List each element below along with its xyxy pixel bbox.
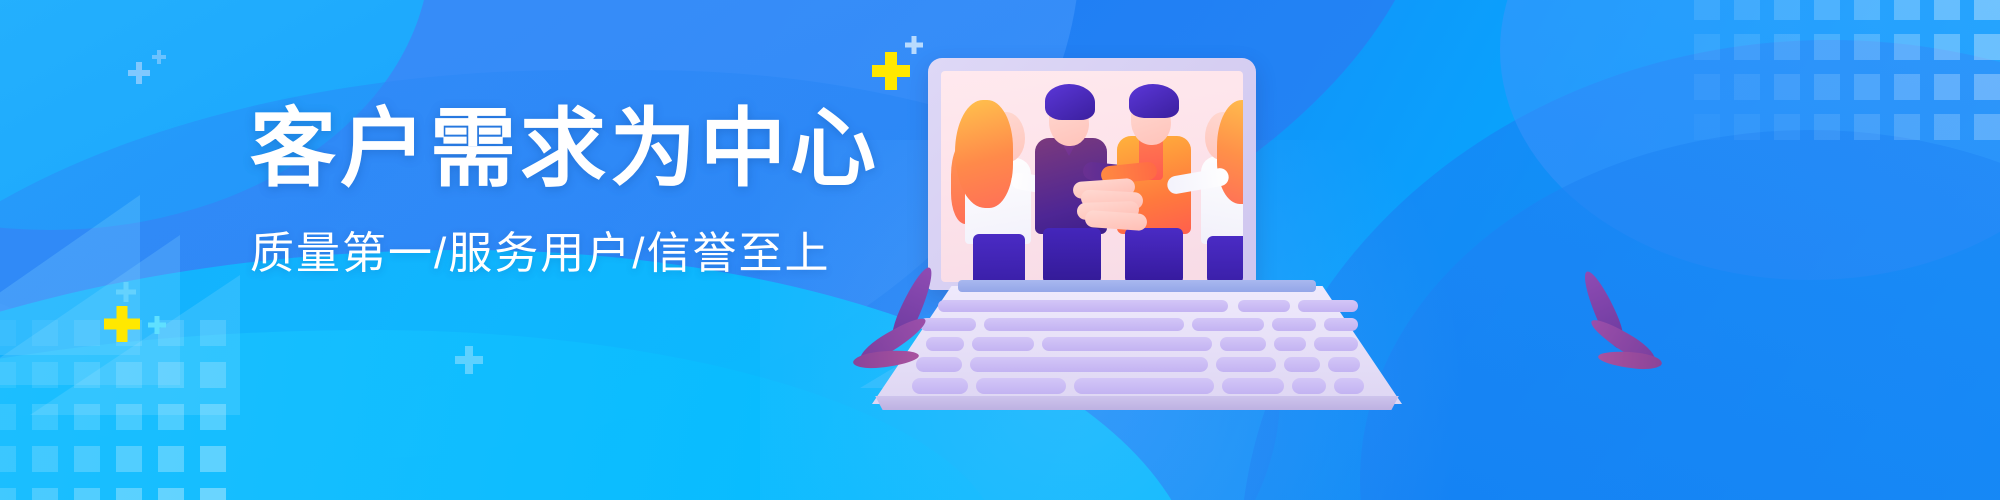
person-2-trousers xyxy=(1043,228,1101,282)
keyboard-key xyxy=(912,378,968,394)
keyboard-key xyxy=(1272,318,1316,331)
keyboard-key xyxy=(926,337,964,351)
keyboard-key xyxy=(1328,357,1360,372)
keyboard-key xyxy=(1334,378,1364,394)
keyboard-key xyxy=(1324,318,1358,331)
person-4-trousers xyxy=(1207,236,1243,282)
banner-text-block: 客户需求为中心 质量第一/服务用户/信誉至上 xyxy=(250,104,870,281)
keyboard-key xyxy=(970,357,1208,372)
hand-4 xyxy=(1084,210,1147,231)
person-figure-4 xyxy=(1185,92,1243,282)
cross-sparkle-topleft-icon xyxy=(128,62,150,84)
keyboard-key xyxy=(1220,337,1266,351)
square-grid-bottom-left xyxy=(0,320,226,500)
banner-subtitle: 质量第一/服务用户/信誉至上 xyxy=(250,217,870,281)
keyboard-key xyxy=(1238,300,1290,312)
laptop-screen xyxy=(941,71,1243,282)
keyboard-key xyxy=(1314,337,1358,351)
keyboard-key xyxy=(1042,337,1212,351)
keyboard-key xyxy=(938,300,1228,312)
keyboard-key xyxy=(972,337,1034,351)
keyboard-key xyxy=(1216,357,1276,372)
keyboard-key xyxy=(1222,378,1284,394)
cross-sparkle-cyan-icon xyxy=(148,316,166,334)
laptop-teamwork-illustration xyxy=(880,40,1640,460)
keyboard-key xyxy=(1192,318,1264,331)
stacked-hands-group xyxy=(1067,180,1163,230)
keyboard-key xyxy=(920,318,976,331)
person-1-hair xyxy=(955,100,1013,208)
keyboard-key xyxy=(1292,378,1326,394)
person-3-hair xyxy=(1129,84,1179,118)
leaf-spark-right-3 xyxy=(1597,349,1662,372)
square-grid-top-right xyxy=(1694,0,2000,140)
keyboard-key xyxy=(976,378,1066,394)
keyboard-key xyxy=(916,357,962,372)
keyboard-key xyxy=(1074,378,1214,394)
keyboard-key xyxy=(984,318,1184,331)
person-3-trousers xyxy=(1125,228,1183,282)
laptop-hinge xyxy=(958,280,1316,292)
laptop-base-edge xyxy=(872,396,1402,410)
keyboard-key xyxy=(1298,300,1358,312)
cross-sparkle-topleft-2-icon xyxy=(152,50,166,64)
person-1-trousers xyxy=(973,234,1025,282)
laptop-base xyxy=(872,286,1402,416)
promo-banner: 客户需求为中心 质量第一/服务用户/信誉至上 xyxy=(0,0,2000,500)
person-2-hair xyxy=(1045,84,1095,120)
laptop-keyboard xyxy=(912,300,1364,394)
laptop-lid xyxy=(928,58,1256,290)
cross-sparkle-cyan-2-icon xyxy=(116,282,136,302)
cross-sparkle-yellow-bottom-icon xyxy=(104,306,140,342)
keyboard-key xyxy=(1284,357,1320,372)
cross-sparkle-cyan-mid-icon xyxy=(455,346,483,374)
keyboard-key xyxy=(1274,337,1306,351)
banner-headline: 客户需求为中心 xyxy=(250,104,870,195)
